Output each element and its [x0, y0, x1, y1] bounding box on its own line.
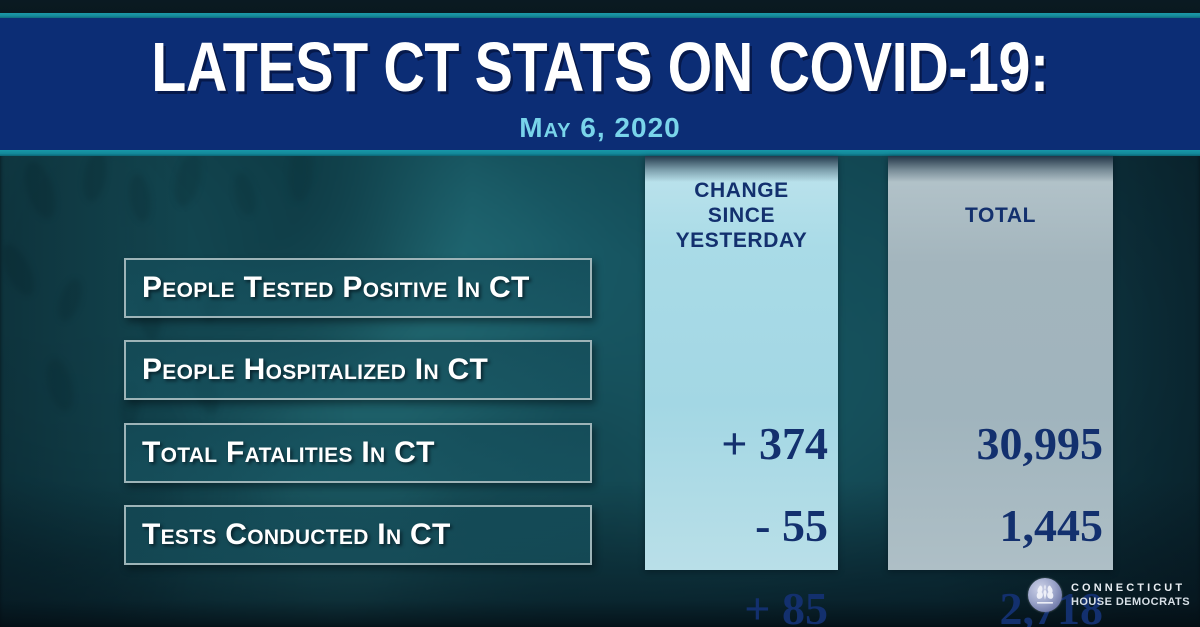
column-header-change-line1: CHANGE	[645, 178, 838, 203]
logo: CONNECTICUT HOUSE DEMOCRATS	[1028, 578, 1190, 612]
row-label-text-3: Total Fatalities In CT	[126, 436, 435, 470]
change-value-row-1: + 374	[645, 414, 828, 474]
row-label-box-2: People Hospitalized In CT	[124, 340, 592, 400]
top-strip	[0, 0, 1200, 13]
column-change-since-yesterday: CHANGE SINCE YESTERDAY + 374 - 55 + 85 +…	[645, 156, 838, 570]
change-value-row-3: + 85	[645, 579, 828, 627]
row-label-text-1: People Tested Positive In CT	[126, 271, 530, 305]
row-label-text-2: People Hospitalized In CT	[126, 353, 488, 387]
infographic-canvas: LATEST CT STATS ON COVID-19: May 6, 2020…	[0, 0, 1200, 627]
total-value-row-2: 1,445	[888, 496, 1103, 556]
logo-line-house-democrats: HOUSE DEMOCRATS	[1071, 597, 1190, 608]
header-date: May 6, 2020	[0, 114, 1200, 142]
page-title: LATEST CT STATS ON COVID-19:	[108, 32, 1092, 102]
row-label-box-1: People Tested Positive In CT	[124, 258, 592, 318]
logo-line-connecticut: CONNECTICUT	[1071, 583, 1190, 594]
connecticut-seal-icon	[1028, 578, 1062, 612]
total-value-row-1: 30,995	[888, 414, 1103, 474]
row-label-box-3: Total Fatalities In CT	[124, 423, 592, 483]
header-band: LATEST CT STATS ON COVID-19: May 6, 2020	[0, 18, 1200, 150]
column-header-total: TOTAL	[888, 203, 1113, 228]
logo-text: CONNECTICUT HOUSE DEMOCRATS	[1071, 583, 1190, 608]
row-label-box-4: Tests Conducted In CT	[124, 505, 592, 565]
row-label-text-4: Tests Conducted In CT	[126, 518, 451, 552]
change-value-row-2: - 55	[645, 496, 828, 556]
column-top-shade	[888, 156, 1113, 182]
column-total: TOTAL 30,995 1,445 2,718 111,447	[888, 156, 1113, 570]
column-header-change: CHANGE SINCE YESTERDAY	[645, 178, 838, 253]
column-header-change-line2: SINCE	[645, 203, 838, 228]
column-header-change-line3: YESTERDAY	[645, 228, 838, 253]
